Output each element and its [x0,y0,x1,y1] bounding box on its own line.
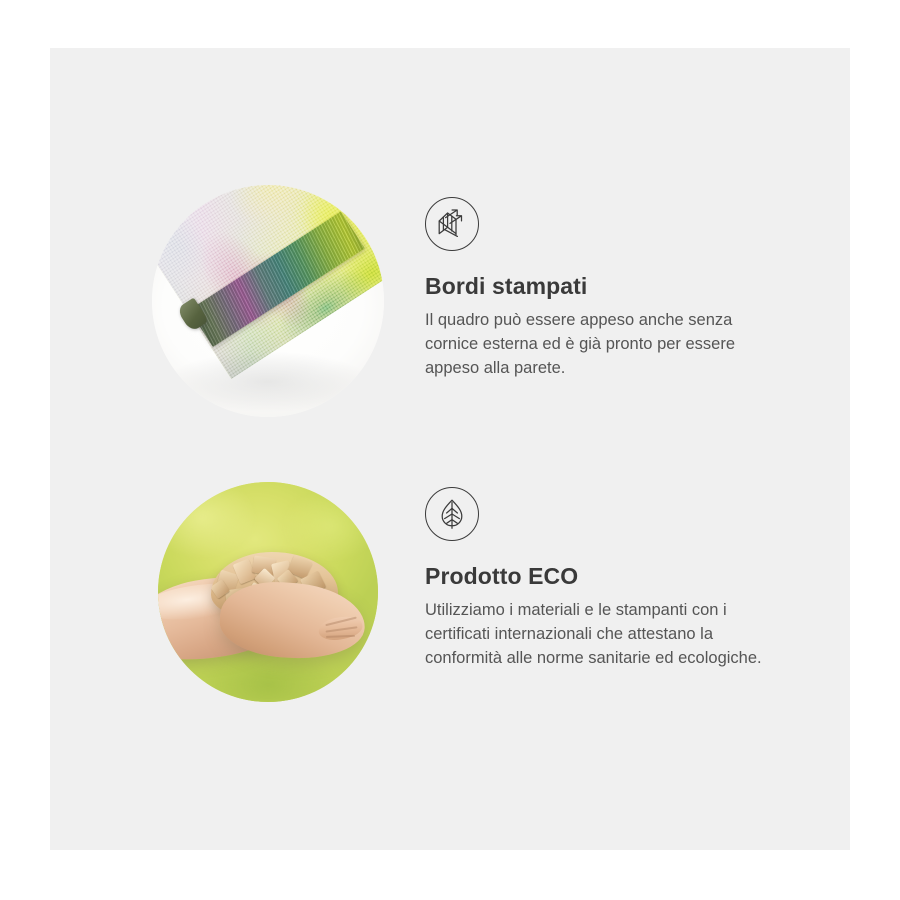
canvas-corner-photo [152,185,384,417]
leaf-icon [425,487,479,541]
eco-photo-background [158,482,378,702]
feature-printed-edges: Bordi stampati Il quadro può essere appe… [100,135,820,435]
feature-title: Bordi stampati [425,273,797,300]
feature-printed-edges-text: Bordi stampati Il quadro può essere appe… [425,197,797,381]
feature-description: Utilizziamo i materiali e le stampanti c… [425,599,790,671]
canvas-photo-background [152,185,384,417]
hands-wood-chips-photo [158,482,378,702]
feature-title: Prodotto ECO [425,563,797,590]
product-feature-page: Bordi stampati Il quadro può essere appe… [0,0,900,900]
printed-edges-icon [425,197,479,251]
feature-eco-product-text: Prodotto ECO Utilizziamo i materiali e l… [425,487,797,671]
feature-eco-product: Prodotto ECO Utilizziamo i materiali e l… [100,425,820,725]
feature-description: Il quadro può essere appeso anche senza … [425,309,790,381]
